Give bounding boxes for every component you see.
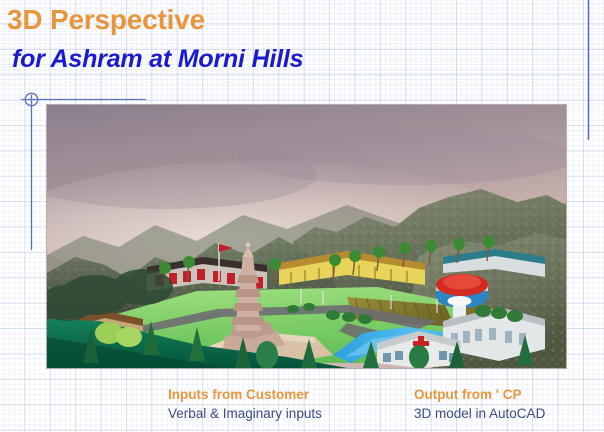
caption-right-heading: Output from ' CP xyxy=(414,387,545,403)
caption-left-sub: Verbal & Imaginary inputs xyxy=(168,405,322,422)
page-title: 3D Perspective xyxy=(7,4,205,36)
caption-left-heading: Inputs from Customer xyxy=(168,387,322,403)
caption-output-from-cp: Output from ' CP 3D model in AutoCAD xyxy=(414,387,545,422)
caption-right-sub: 3D model in AutoCAD xyxy=(414,405,545,422)
page-subtitle: for Ashram at Morni Hills xyxy=(12,45,303,74)
caption-inputs-from-customer: Inputs from Customer Verbal & Imaginary … xyxy=(168,387,322,422)
slide-canvas: 3D Perspective for Ashram at Morni Hills xyxy=(0,0,604,432)
perspective-render-image xyxy=(47,105,566,368)
